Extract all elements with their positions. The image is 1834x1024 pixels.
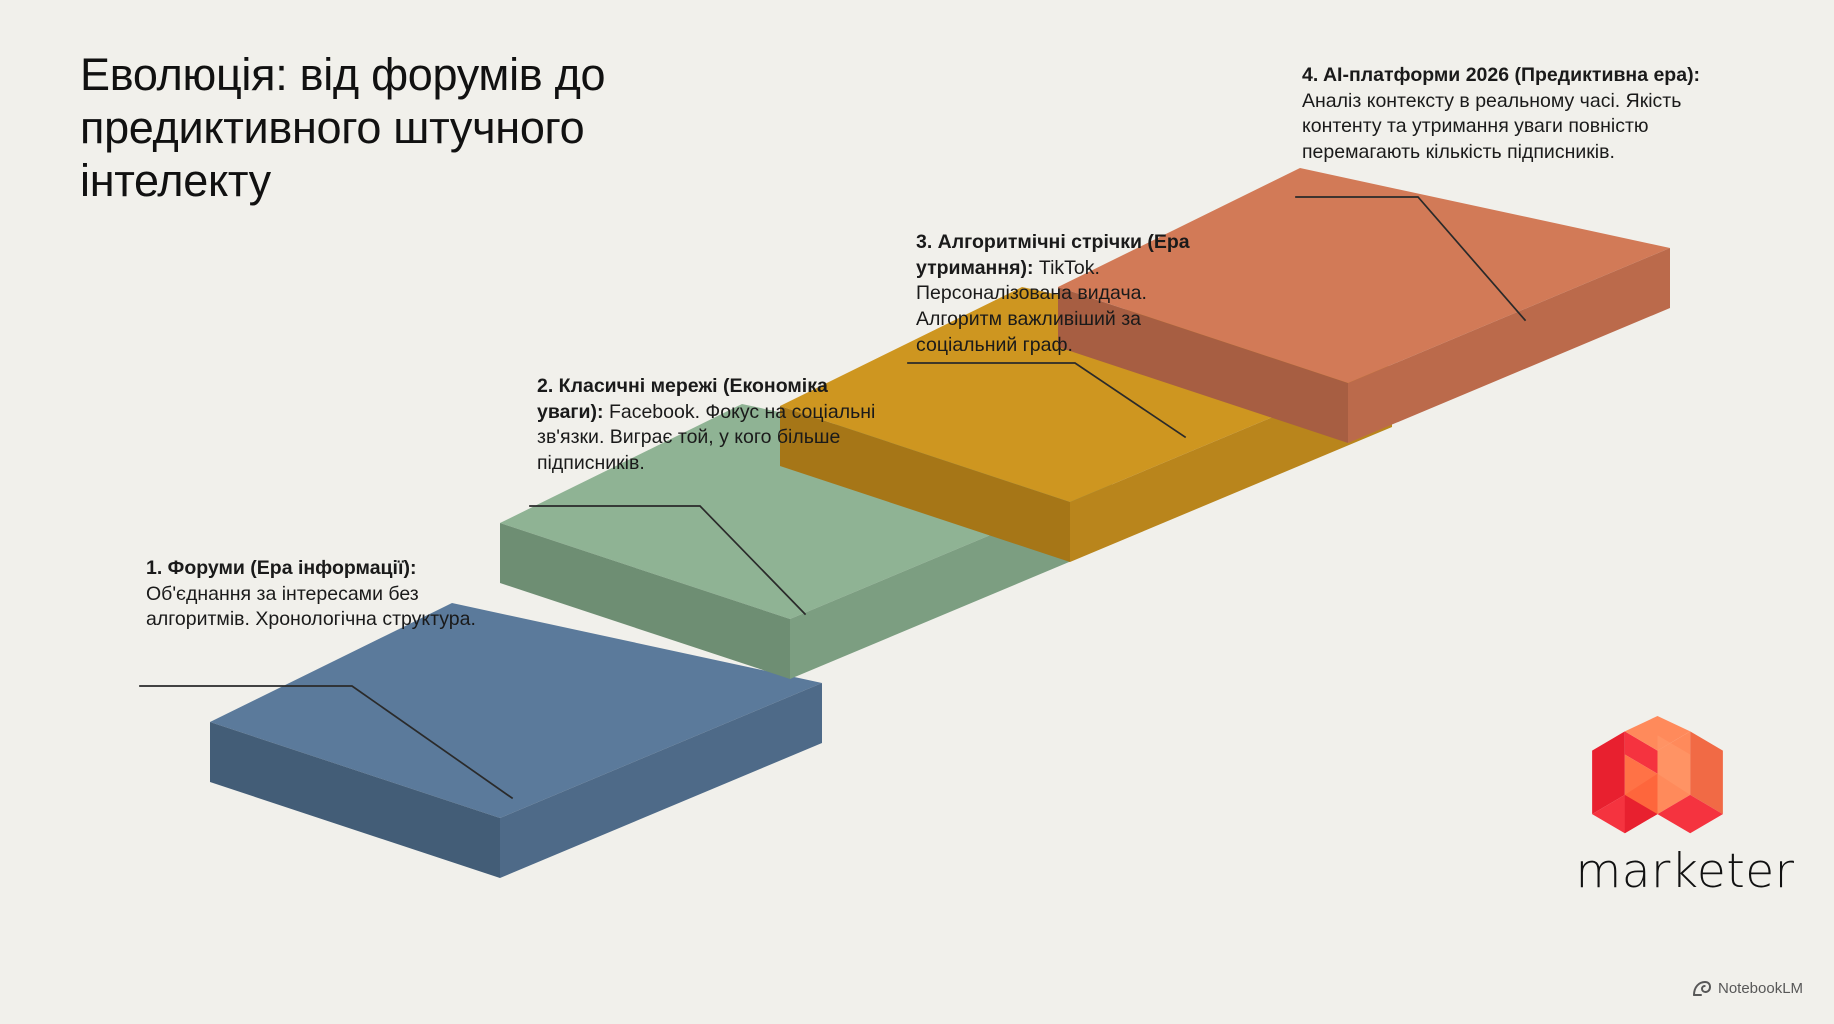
callout-step-2: 2. Класичні мережі (Економіка уваги): Fa… bbox=[537, 374, 889, 477]
callout-step-4-body: Аналіз контексту в реальному часі. Якіст… bbox=[1302, 90, 1681, 163]
callout-step-4-heading: 4. AI-платформи 2026 (Предиктивна ера): bbox=[1302, 64, 1700, 86]
notebooklm-spiral-icon bbox=[1692, 980, 1711, 997]
callout-step-4: 4. AI-платформи 2026 (Предиктивна ера): … bbox=[1302, 63, 1702, 166]
brand-logo: marketer bbox=[1560, 716, 1810, 896]
brand-wordmark: marketer bbox=[1560, 844, 1810, 899]
notebooklm-badge-label: NotebookLM bbox=[1718, 980, 1803, 997]
callout-step-1: 1. Форуми (Ера інформації): Об'єднання з… bbox=[146, 556, 506, 633]
infographic-canvas: Еволюція: від форумів до предиктивного ш… bbox=[0, 0, 1834, 1024]
callout-step-1-body: Об'єднання за інтересами без алгоритмів.… bbox=[146, 583, 476, 631]
notebooklm-badge: NotebookLM bbox=[1692, 980, 1803, 997]
marketer-isometric-m-logo bbox=[1590, 716, 1725, 841]
callout-step-1-heading: 1. Форуми (Ера інформації): bbox=[146, 557, 416, 579]
callout-step-3: 3. Алгоритмічні стрічки (Ера утримання):… bbox=[916, 230, 1236, 359]
